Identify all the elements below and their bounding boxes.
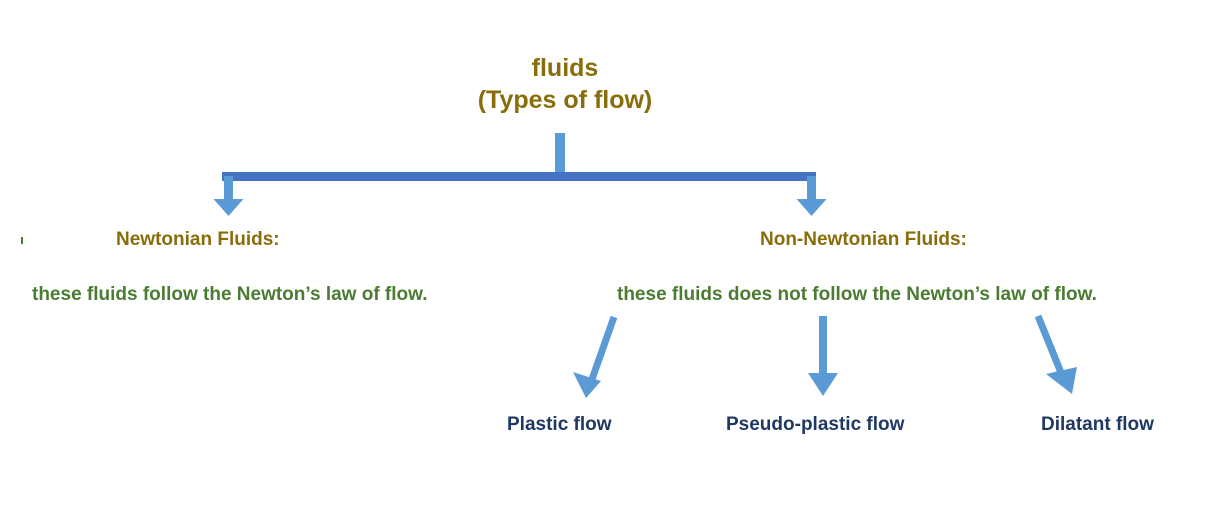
category-description-non-newtonian: these fluids does not follow the Newton’… — [617, 283, 1097, 307]
root-node: fluids (Types of flow) — [0, 52, 1130, 116]
category-description-newtonian: these fluids follow the Newton’s law of … — [32, 283, 428, 307]
arrow-to-newtonian — [214, 176, 244, 216]
arrow-to-non-newtonian — [797, 176, 827, 216]
category-label-newtonian: Newtonian Fluids: — [116, 228, 280, 252]
arrow-to-pseudo-plastic-flow — [808, 316, 838, 396]
root-stem-line — [555, 133, 565, 175]
horizontal-bracket-bar — [222, 172, 816, 181]
arrow-to-dilatant-flow — [1038, 316, 1077, 394]
stray-ink-mark — [21, 237, 23, 244]
leaf-node-plastic-flow: Plastic flow — [507, 413, 612, 437]
diagram-canvas: fluids (Types of flow) Newtonian Fluids:… — [0, 0, 1212, 508]
arrow-to-plastic-flow — [573, 317, 614, 398]
leaf-node-dilatant-flow: Dilatant flow — [1041, 413, 1154, 437]
root-title-line-1: fluids — [532, 54, 599, 82]
root-title-line-2: (Types of flow) — [0, 84, 1130, 116]
category-label-non-newtonian: Non-Newtonian Fluids: — [760, 228, 967, 252]
leaf-node-pseudo-plastic-flow: Pseudo-plastic flow — [726, 413, 904, 437]
